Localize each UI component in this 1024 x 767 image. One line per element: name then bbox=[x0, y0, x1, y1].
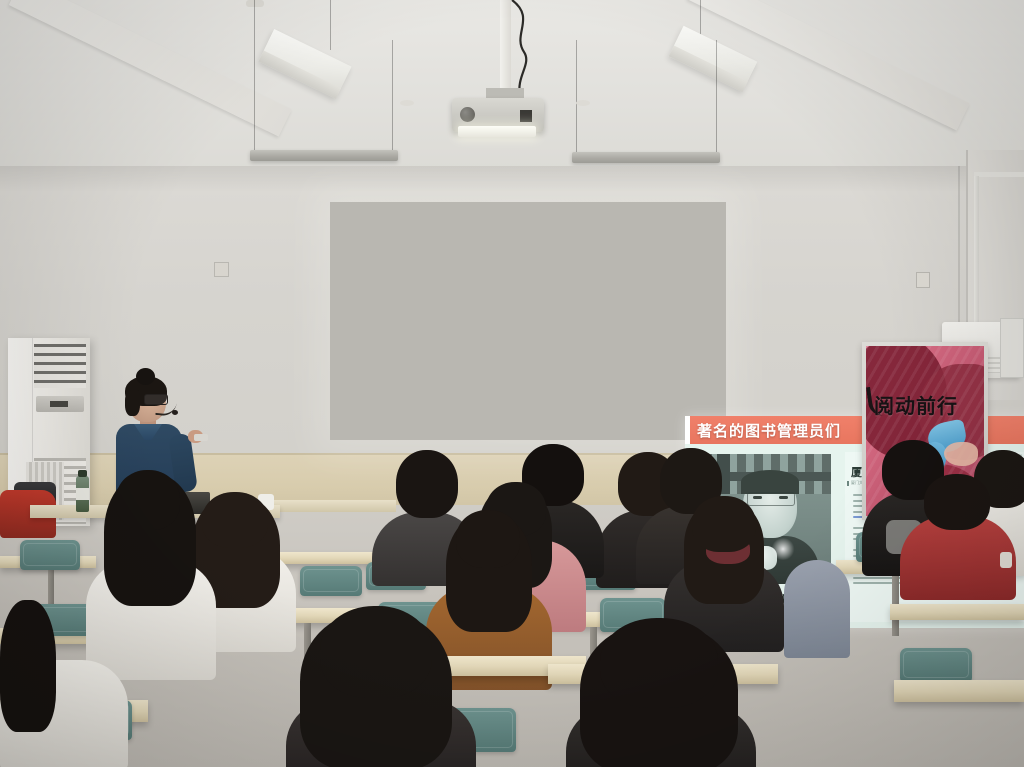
wall-shadow bbox=[0, 166, 1024, 192]
chair[interactable] bbox=[900, 648, 972, 682]
light-wire-1 bbox=[254, 0, 255, 40]
hoodie-logo bbox=[1000, 552, 1012, 568]
chair[interactable] bbox=[300, 566, 362, 596]
presentation-clicker[interactable] bbox=[194, 434, 208, 441]
light-wire-2 bbox=[330, 0, 331, 50]
student-head bbox=[396, 450, 458, 518]
student-torso bbox=[784, 560, 850, 658]
student-head bbox=[924, 474, 990, 530]
fluorescent-light-bar-left bbox=[250, 150, 398, 161]
ac-pipe-horizontal bbox=[974, 172, 1024, 177]
headset-microphone-tip bbox=[172, 410, 178, 415]
table-row bbox=[894, 680, 1024, 702]
ceiling-anchor-right bbox=[576, 100, 590, 106]
projector-lens bbox=[460, 107, 475, 122]
light-wire-3 bbox=[254, 40, 255, 152]
portrait-hair bbox=[741, 470, 799, 494]
classroom-photo: 著名的图书管理员们 林语堂——厦门大学图书馆主 bbox=[0, 0, 1024, 767]
portrait-eye-left bbox=[753, 496, 762, 499]
bottle-label bbox=[76, 488, 89, 500]
projector-cable bbox=[506, 0, 550, 100]
slide-title: 著名的图书管理员们 bbox=[697, 420, 841, 441]
light-wire-6 bbox=[576, 40, 577, 154]
ac-pipe-vertical bbox=[974, 176, 979, 326]
student-head bbox=[320, 606, 432, 698]
student-head bbox=[456, 510, 520, 568]
student-head bbox=[692, 496, 756, 552]
portrait-smoke bbox=[771, 538, 795, 560]
projector-light-beam bbox=[458, 126, 536, 137]
student-head bbox=[202, 492, 268, 548]
fluorescent-light-bar-right bbox=[572, 152, 720, 163]
student-hair bbox=[0, 600, 56, 732]
student-head bbox=[116, 470, 180, 530]
wall-socket-box bbox=[214, 262, 229, 277]
poster-text: 阅动前行 bbox=[874, 390, 958, 419]
chair[interactable] bbox=[20, 540, 80, 570]
light-wire-4 bbox=[392, 40, 393, 152]
projection-screen: 著名的图书管理员们 林语堂——厦门大学图书馆主 bbox=[330, 202, 726, 440]
portrait-eye-right bbox=[779, 496, 788, 499]
wall-control-panel[interactable] bbox=[1000, 318, 1024, 378]
poster-hand-icon bbox=[944, 442, 978, 466]
bottle-cap bbox=[78, 470, 87, 477]
student-head bbox=[600, 618, 718, 708]
table-row bbox=[890, 604, 1024, 620]
light-wire-7 bbox=[716, 40, 717, 154]
ceiling-anchor-left bbox=[400, 100, 414, 106]
presenter-hair-bun bbox=[136, 368, 155, 385]
portrait-glasses bbox=[747, 492, 795, 506]
light-mount-1 bbox=[246, 0, 264, 7]
ac-top-vent bbox=[34, 344, 86, 388]
ac-display-panel[interactable] bbox=[36, 396, 84, 412]
projector-port-panel bbox=[520, 110, 532, 122]
presenter-hair-side bbox=[125, 390, 140, 416]
wall-light-switch[interactable] bbox=[916, 272, 930, 288]
